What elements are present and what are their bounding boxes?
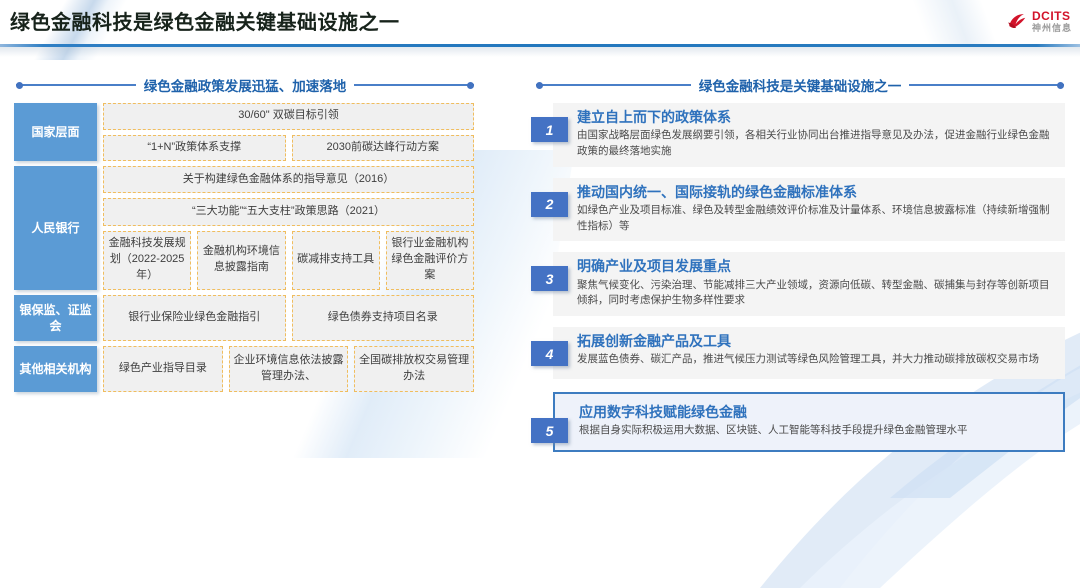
item-number-badge: 3 <box>531 266 568 291</box>
policy-matrix-row-label: 其他相关机构 <box>14 346 97 392</box>
left-header-rule-left <box>16 84 136 86</box>
policy-matrix-cell[interactable]: 银行业金融机构绿色金融评价方案 <box>386 231 474 290</box>
left-section-title: 绿色金融政策发展迅猛、加速落地 <box>144 75 347 95</box>
right-header-rule-left <box>536 84 691 86</box>
item-heading: 建立自上而下的政策体系 <box>577 108 1055 126</box>
item-panel: 明确产业及项目发展重点聚焦气候变化、污染治理、节能减排三大产业领域，资源向低碳、… <box>553 252 1065 316</box>
policy-matrix-cell[interactable]: 绿色债券支持项目名录 <box>292 295 475 341</box>
left-section-header: 绿色金融政策发展迅猛、加速落地 <box>16 76 474 94</box>
infrastructure-item[interactable]: 4拓展创新金融产品及工具发展蓝色债券、碳汇产品，推进气候压力测试等绿色风险管理工… <box>531 327 1065 381</box>
infrastructure-item[interactable]: 5应用数字科技赋能绿色金融根据自身实际积极运用大数据、区块链、人工智能等科技手段… <box>531 392 1065 452</box>
policy-matrix-row-label: 国家层面 <box>14 103 97 161</box>
infrastructure-item[interactable]: 1建立自上而下的政策体系由国家战略层面绿色发展纲要引领，各相关行业协同出台推进指… <box>531 103 1065 167</box>
policy-matrix-cell[interactable]: 绿色产业指导目录 <box>103 346 223 392</box>
item-panel: 建立自上而下的政策体系由国家战略层面绿色发展纲要引领，各相关行业协同出台推进指导… <box>553 103 1065 167</box>
policy-matrix-cell-group: 关于构建绿色金融体系的指导意见（2016） <box>103 166 474 193</box>
item-heading: 明确产业及项目发展重点 <box>577 257 1055 275</box>
item-panel: 推动国内统一、国际接轨的绿色金融标准体系如绿色产业及项目标准、绿色及转型金融绩效… <box>553 178 1065 242</box>
item-heading: 推动国内统一、国际接轨的绿色金融标准体系 <box>577 183 1055 201</box>
item-number-badge: 2 <box>531 192 568 217</box>
item-description: 聚焦气候变化、污染治理、节能减排三大产业领域，资源向低碳、转型金融、碳捕集与封存… <box>577 278 1055 310</box>
logo-text: DCITS 神州信息 <box>1032 10 1072 33</box>
right-header-rule-right <box>909 84 1064 86</box>
item-description: 根据自身实际积极运用大数据、区块链、人工智能等科技手段提升绿色金融管理水平 <box>579 423 1053 439</box>
item-number-badge: 4 <box>531 341 568 366</box>
policy-matrix-cell-group: “三大功能”“五大支柱”政策思路（2021） <box>103 198 474 225</box>
policy-matrix-cell[interactable]: 企业环境信息依法披露管理办法、 <box>229 346 349 392</box>
policy-matrix-cell[interactable]: 关于构建绿色金融体系的指导意见（2016） <box>103 166 474 193</box>
key-infrastructure-list: 1建立自上而下的政策体系由国家战略层面绿色发展纲要引领，各相关行业协同出台推进指… <box>531 103 1065 452</box>
policy-matrix-cell[interactable]: “三大功能”“五大支柱”政策思路（2021） <box>103 198 474 225</box>
policy-matrix-cell[interactable]: 金融科技发展规划（2022-2025年） <box>103 231 191 290</box>
policy-matrix-cell-group: 30/60" 双碳目标引领 <box>103 103 474 130</box>
dcits-logo-icon <box>1006 10 1028 32</box>
logo-cn-label: 神州信息 <box>1032 24 1072 33</box>
policy-matrix-row-cells: 关于构建绿色金融体系的指导意见（2016）“三大功能”“五大支柱”政策思路（20… <box>103 166 474 290</box>
right-section-title: 绿色金融科技是关键基础设施之一 <box>699 75 902 95</box>
logo-en-label: DCITS <box>1032 10 1072 22</box>
policy-matrix-cell[interactable]: 碳减排支持工具 <box>292 231 380 290</box>
policy-matrix-cell-group: “1+N”政策体系支撑2030前碳达峰行动方案 <box>103 135 474 162</box>
policy-matrix-cell-group: 银行业保险业绿色金融指引绿色债券支持项目名录 <box>103 295 474 341</box>
infrastructure-item[interactable]: 3明确产业及项目发展重点聚焦气候变化、污染治理、节能减排三大产业领域，资源向低碳… <box>531 252 1065 316</box>
policy-matrix-row: 其他相关机构绿色产业指导目录企业环境信息依法披露管理办法、全国碳排放权交易管理办… <box>14 346 474 392</box>
policy-matrix-cell[interactable]: 全国碳排放权交易管理办法 <box>354 346 474 392</box>
item-panel: 应用数字科技赋能绿色金融根据自身实际积极运用大数据、区块链、人工智能等科技手段提… <box>553 392 1065 452</box>
policy-matrix-cell[interactable]: “1+N”政策体系支撑 <box>103 135 286 162</box>
title-divider-shadow <box>0 47 1080 57</box>
item-description: 如绿色产业及项目标准、绿色及转型金融绩效评价标准及计量体系、环境信息披露标准（持… <box>577 203 1055 235</box>
brand-logo: DCITS 神州信息 <box>1006 6 1072 36</box>
policy-matrix-row-label: 银保监、证监会 <box>14 295 97 341</box>
item-heading: 拓展创新金融产品及工具 <box>577 332 1055 350</box>
item-number-badge: 1 <box>531 117 568 142</box>
policy-matrix-cell[interactable]: 金融机构环境信息披露指南 <box>197 231 285 290</box>
policy-matrix-row-cells: 30/60" 双碳目标引领“1+N”政策体系支撑2030前碳达峰行动方案 <box>103 103 474 161</box>
policy-matrix-row-cells: 银行业保险业绿色金融指引绿色债券支持项目名录 <box>103 295 474 341</box>
policy-matrix-cell-group: 绿色产业指导目录企业环境信息依法披露管理办法、全国碳排放权交易管理办法 <box>103 346 474 392</box>
policy-matrix-row: 人民银行关于构建绿色金融体系的指导意见（2016）“三大功能”“五大支柱”政策思… <box>14 166 474 290</box>
left-header-rule-right <box>354 84 474 86</box>
item-description: 发展蓝色债券、碳汇产品，推进气候压力测试等绿色风险管理工具，并大力推动碳排放碳权… <box>577 352 1055 368</box>
page-title: 绿色金融科技是绿色金融关键基础设施之一 <box>10 6 400 35</box>
policy-matrix-row-cells: 绿色产业指导目录企业环境信息依法披露管理办法、全国碳排放权交易管理办法 <box>103 346 474 392</box>
policy-matrix-row-label: 人民银行 <box>14 166 97 290</box>
policy-matrix-row: 银保监、证监会银行业保险业绿色金融指引绿色债券支持项目名录 <box>14 295 474 341</box>
policy-matrix-row: 国家层面30/60" 双碳目标引领“1+N”政策体系支撑2030前碳达峰行动方案 <box>14 103 474 161</box>
item-description: 由国家战略层面绿色发展纲要引领，各相关行业协同出台推进指导意见及办法，促进金融行… <box>577 128 1055 160</box>
item-number-badge: 5 <box>531 418 568 443</box>
policy-matrix-cell[interactable]: 30/60" 双碳目标引领 <box>103 103 474 130</box>
right-section-header: 绿色金融科技是关键基础设施之一 <box>536 76 1064 94</box>
policy-matrix-table: 国家层面30/60" 双碳目标引领“1+N”政策体系支撑2030前碳达峰行动方案… <box>14 103 474 392</box>
item-heading: 应用数字科技赋能绿色金融 <box>579 403 1053 421</box>
policy-matrix-cell-group: 金融科技发展规划（2022-2025年）金融机构环境信息披露指南碳减排支持工具银… <box>103 231 474 290</box>
policy-matrix-cell[interactable]: 银行业保险业绿色金融指引 <box>103 295 286 341</box>
item-panel: 拓展创新金融产品及工具发展蓝色债券、碳汇产品，推进气候压力测试等绿色风险管理工具… <box>553 327 1065 379</box>
policy-matrix-cell[interactable]: 2030前碳达峰行动方案 <box>292 135 475 162</box>
infrastructure-item[interactable]: 2推动国内统一、国际接轨的绿色金融标准体系如绿色产业及项目标准、绿色及转型金融绩… <box>531 178 1065 242</box>
